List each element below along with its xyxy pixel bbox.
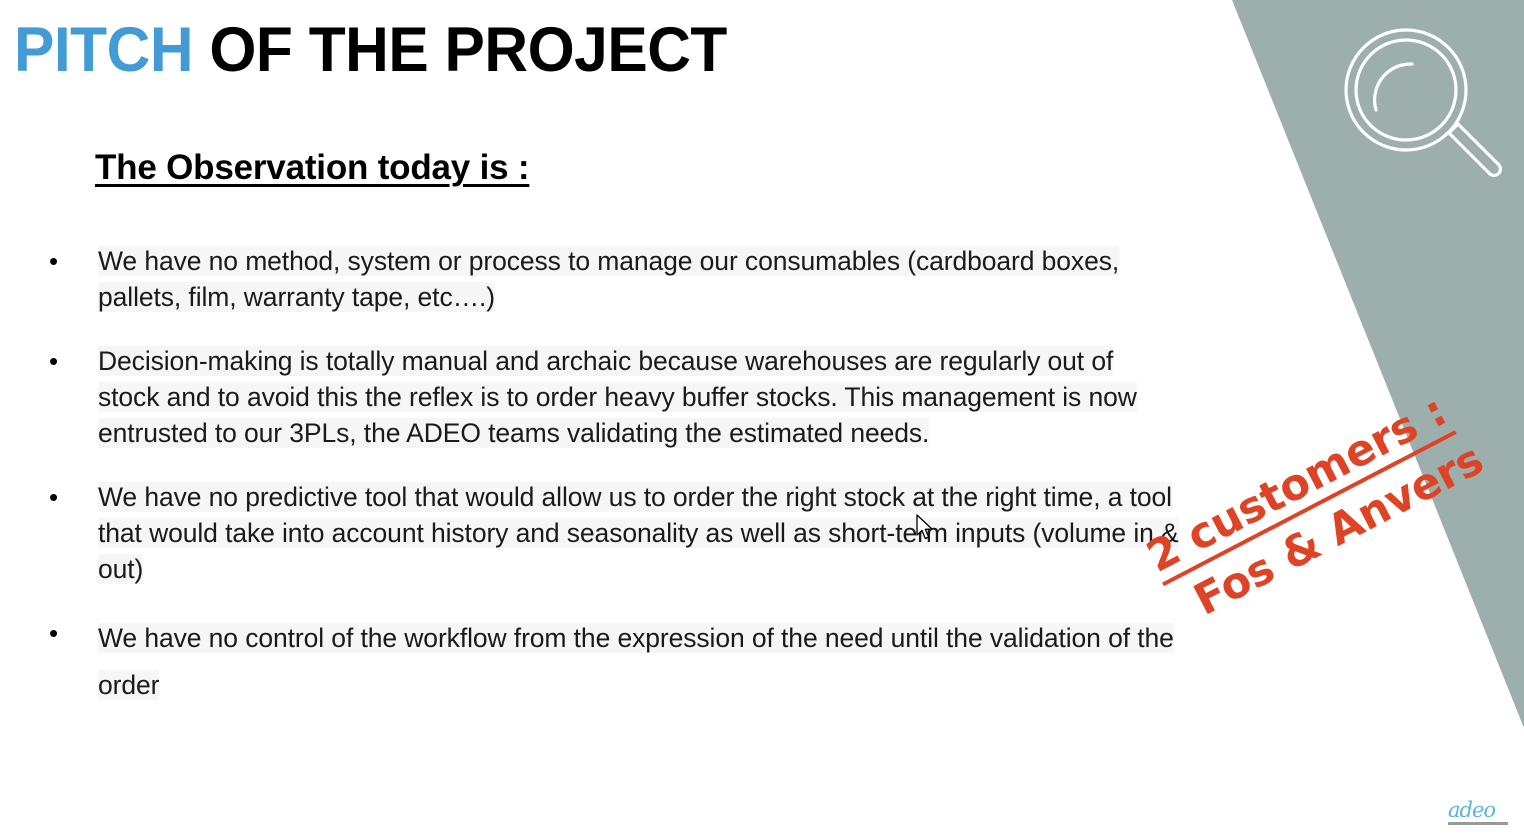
bullet-text-content: Decision-making is totally manual and ar… (98, 346, 1137, 448)
slide-canvas: PITCH OF THE PROJECT The Observation tod… (0, 0, 1524, 838)
bullet-text: We have no control of the workflow from … (98, 615, 1180, 709)
adeo-logo-text: adeo (1448, 800, 1512, 821)
bullet-marker-icon: • (40, 243, 98, 279)
magnifier-icon (1330, 18, 1510, 198)
list-item: • We have no method, system or process t… (40, 243, 1180, 315)
corner-band-decoration (1224, 0, 1524, 730)
bullet-list: • We have no method, system or process t… (40, 243, 1180, 709)
list-item: • We have no predictive tool that would … (40, 479, 1180, 587)
slide-subtitle: The Observation today is : (95, 148, 529, 188)
list-item: • Decision-making is totally manual and … (40, 343, 1180, 451)
bullet-text: We have no method, system or process to … (98, 243, 1180, 315)
list-item: • We have no control of the workflow fro… (40, 615, 1180, 709)
bullet-text: Decision-making is totally manual and ar… (98, 343, 1180, 451)
bullet-marker-icon: • (40, 479, 98, 515)
bullet-text: We have no predictive tool that would al… (98, 479, 1180, 587)
annotation-line-1: 2 customers : (1140, 388, 1457, 587)
bullet-text-content: We have no method, system or process to … (98, 246, 1119, 312)
adeo-logo: adeo (1448, 800, 1512, 830)
adeo-logo-bar (1448, 822, 1508, 825)
bullet-marker-icon: • (40, 343, 98, 379)
bullet-text-content: We have no control of the workflow from … (98, 623, 1174, 700)
annotation-line-2: Fos & Anvers (1187, 437, 1491, 625)
bullet-marker-icon: • (40, 615, 98, 651)
handwritten-annotation: 2 customers : Fos & Anvers (1140, 383, 1491, 635)
title-highlight-word: PITCH (14, 15, 193, 85)
slide-title: PITCH OF THE PROJECT (14, 17, 727, 83)
title-rest: OF THE PROJECT (193, 15, 727, 85)
bullet-text-content: We have no predictive tool that would al… (98, 482, 1179, 584)
